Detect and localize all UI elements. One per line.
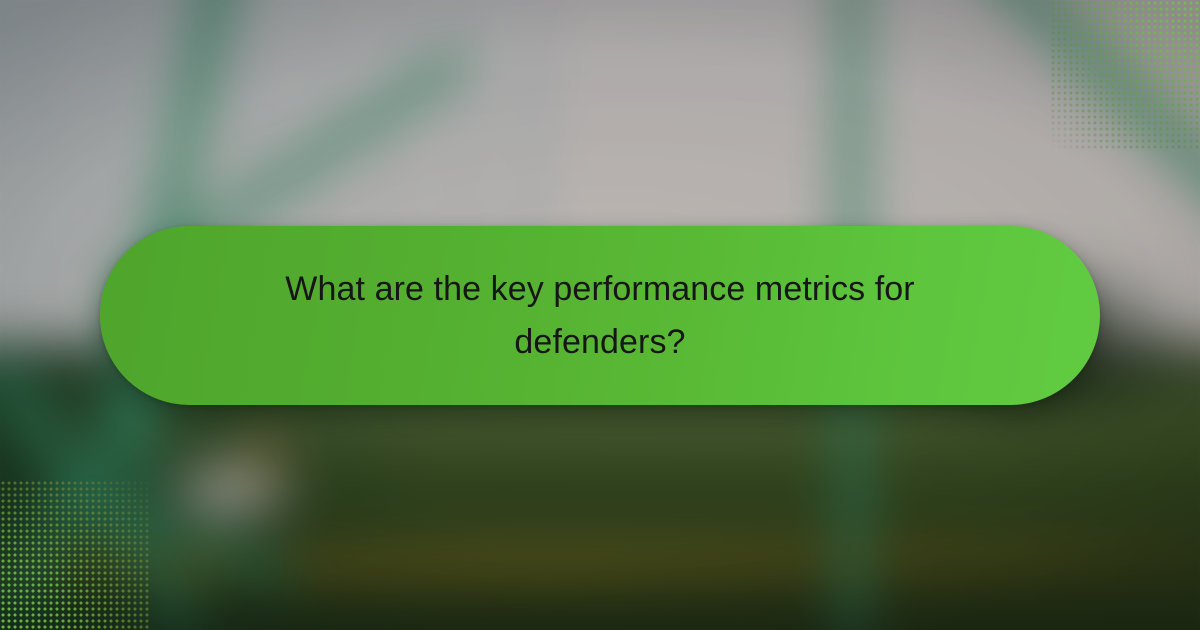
- question-pill[interactable]: What are the key performance metrics for…: [100, 226, 1100, 405]
- question-card-canvas: What are the key performance metrics for…: [0, 0, 1200, 630]
- question-text: What are the key performance metrics for…: [230, 263, 970, 368]
